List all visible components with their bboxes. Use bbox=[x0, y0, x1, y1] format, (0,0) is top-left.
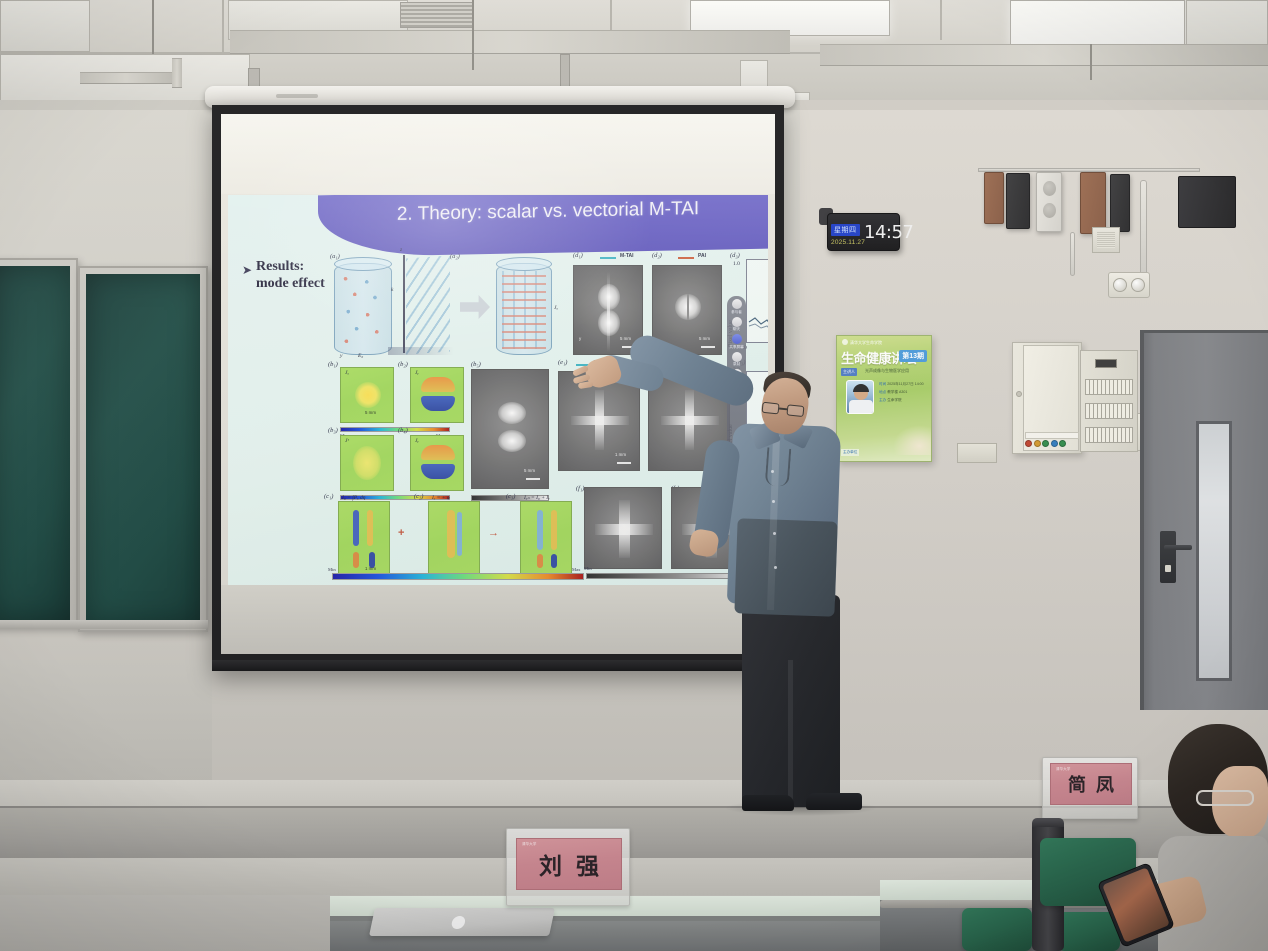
emergency-light-lens bbox=[1113, 278, 1127, 292]
figure-c2-equation: Iₑ = + φ bbox=[432, 495, 450, 501]
clock-time: 14:57 bbox=[864, 222, 913, 243]
placard-name-char-1: 简 bbox=[1068, 771, 1086, 797]
figure-a1-axis-line bbox=[403, 255, 405, 353]
figure-c1-scalebar-label: 1 mm bbox=[365, 566, 376, 571]
figure-d1-axis-y: y bbox=[579, 336, 581, 341]
laptop-macbook[interactable] bbox=[369, 908, 555, 936]
panel-label-a1: (a₁) bbox=[330, 253, 340, 260]
poster-photo-hair bbox=[853, 384, 869, 392]
wall-speaker-black-1 bbox=[1006, 173, 1030, 229]
control-button-blue[interactable] bbox=[1051, 440, 1058, 447]
figure-d3-ytick-top: 1.0 bbox=[733, 261, 740, 267]
figure-a2-current-label: Jₓ bbox=[554, 305, 558, 311]
figure-c1-fieldmap: 1 mm bbox=[338, 501, 390, 575]
ceiling-beam bbox=[820, 44, 1268, 66]
control-button-yellow[interactable] bbox=[1034, 440, 1041, 447]
breaker-meter-display bbox=[1095, 359, 1117, 368]
presenter-shirt-lower bbox=[734, 518, 837, 616]
panel-label-b3: (b₃) bbox=[328, 427, 338, 434]
chalkboard-chalk-tray bbox=[0, 620, 208, 629]
figure-b1-fieldmap: Jₓ 5 mm bbox=[340, 367, 394, 423]
presenter-shoe-right bbox=[806, 793, 862, 810]
panel-label-c1: (c₁) bbox=[324, 493, 333, 500]
poster-org-name: 清华大学生命学院 bbox=[850, 340, 882, 346]
poster-detail-value: 2025年11月27日 14:00 bbox=[887, 382, 924, 386]
share-icon[interactable] bbox=[732, 334, 742, 344]
ceiling-hanger-rod bbox=[472, 0, 474, 70]
toolbar-item-chat[interactable]: 聊天 bbox=[727, 317, 746, 333]
poster-detail-row: 主办 生命学院 bbox=[879, 398, 929, 403]
figure-c3-stripe-cyan bbox=[537, 510, 543, 550]
chalkboard-surface bbox=[0, 266, 70, 620]
figure-b2-upper-lobe bbox=[421, 377, 455, 392]
ceiling-bracket bbox=[80, 72, 172, 84]
panel-label-b5: (b₅) bbox=[471, 361, 481, 368]
figure-b1-symbol: Jₓ bbox=[345, 370, 349, 376]
emergency-light bbox=[1108, 272, 1150, 298]
figure-f-colorbar-min: Min bbox=[584, 566, 592, 571]
ceiling-hanger-rod bbox=[1090, 44, 1092, 80]
toolbar-item-participants[interactable]: 参与者 bbox=[727, 299, 746, 315]
ceiling-grid-line bbox=[940, 0, 942, 40]
ceiling-bracket-post bbox=[172, 58, 182, 88]
poster-speaker-tag: 主讲人 bbox=[841, 368, 857, 376]
name-placard-1: 清华大学 刘 强 bbox=[516, 838, 622, 890]
wall-cable-conduit bbox=[1070, 232, 1075, 276]
poster-org-logo-icon bbox=[842, 339, 848, 345]
figure-b5-lobe bbox=[498, 430, 526, 452]
control-button-green-1[interactable] bbox=[1042, 440, 1049, 447]
figure-b4-upper-lobe bbox=[421, 445, 455, 460]
figure-b5-image: 5 mm bbox=[471, 369, 549, 489]
figure-c3-fieldmap bbox=[520, 501, 572, 575]
figure-b5-lobe bbox=[498, 402, 526, 424]
ceiling-beam bbox=[230, 30, 790, 54]
ceiling-speaker-black bbox=[1178, 176, 1236, 228]
breaker-switch-row[interactable] bbox=[1085, 403, 1133, 419]
poster-photo-body bbox=[849, 400, 873, 414]
door-lever-handle[interactable] bbox=[1164, 545, 1192, 550]
figure-b1-scalebar-label: 5 mm bbox=[365, 410, 376, 415]
figure-b5-scalebar bbox=[526, 478, 540, 480]
emergency-light-lens bbox=[1131, 278, 1145, 292]
figure-f1-image bbox=[584, 487, 662, 569]
wall-cable-conduit bbox=[1140, 180, 1147, 280]
poster-detail-row: 时间 2025年11月27日 14:00 bbox=[879, 382, 929, 387]
legend-line-mtai bbox=[600, 257, 616, 259]
figure-c1-stripe-yellow bbox=[367, 510, 373, 546]
figure-b4-symbol: Jᵧ bbox=[415, 438, 419, 444]
ceiling-grid-line bbox=[222, 0, 224, 52]
figure-d2-split-line bbox=[687, 294, 689, 320]
figure-a1-axis-y: y bbox=[340, 353, 342, 359]
legend-label-mtai: M-TAI bbox=[620, 253, 634, 259]
figure-e2-cross-vertical bbox=[685, 390, 694, 450]
figure-c3-stripe-orange bbox=[537, 554, 543, 568]
poster-footer: 主办单位 bbox=[841, 449, 859, 456]
placard-name-char-2: 强 bbox=[576, 847, 599, 881]
panel-label-b1: (b₁) bbox=[328, 361, 338, 368]
figure-c1-stripe-blue bbox=[353, 510, 359, 546]
figure-d3-plot-area bbox=[746, 259, 768, 343]
figure-c2-stripe-yellow bbox=[447, 510, 455, 558]
figure-c3-stripe-navy bbox=[551, 554, 557, 568]
floor-post-cap bbox=[1032, 818, 1064, 827]
presenter-shoe-left bbox=[742, 795, 794, 811]
name-placard-2: 清华大学 简 凤 bbox=[1050, 763, 1132, 805]
poster-detail-value: 教学楼 A301 bbox=[887, 390, 907, 394]
figure-c1-stripe-orange bbox=[353, 552, 359, 568]
figure-d2-scalebar bbox=[701, 346, 715, 348]
wall-speaker-white-1 bbox=[1036, 172, 1062, 232]
figure-e1-scalebar bbox=[617, 462, 631, 464]
presenter-leg-separation bbox=[788, 660, 793, 807]
chalkboard-panel-left bbox=[0, 258, 78, 628]
figure-f-colorbar bbox=[586, 573, 750, 579]
wall-outlet-panel bbox=[957, 443, 997, 463]
poster-detail-row: 地点 教学楼 A301 bbox=[879, 390, 929, 395]
figure-c2-stripe-cyan bbox=[457, 512, 462, 556]
screen-upper-blank-area bbox=[221, 114, 775, 194]
figure-b2-symbol: Jᵧ bbox=[415, 370, 419, 376]
ceiling-air-vent bbox=[400, 2, 474, 28]
screen-weight-bar bbox=[212, 660, 784, 671]
electrical-box-label-strip bbox=[1025, 432, 1079, 439]
presentation-slide: 2. Theory: scalar vs. vectorial M-TAI ➤ … bbox=[228, 195, 768, 585]
figure-b1-colorbar bbox=[340, 427, 450, 432]
figure-d1-scalebar-label: 5 mm bbox=[620, 336, 631, 341]
legend-line-pai bbox=[678, 257, 694, 259]
toolbar-label: 聊天 bbox=[727, 327, 746, 332]
wall-amplifier-unit bbox=[1092, 227, 1120, 253]
poster-decoration bbox=[893, 425, 932, 455]
screen-lower-blank-area bbox=[221, 585, 775, 654]
presenter-glasses-lens-right bbox=[786, 404, 804, 417]
clock-weekday: 星期四 bbox=[831, 224, 860, 236]
figure-d2-scalebar-label: 5 mm bbox=[699, 336, 710, 341]
figure-c-colorbar-min: Min bbox=[328, 567, 336, 572]
figure-a1-axis-z: z bbox=[400, 247, 402, 253]
figure-b4-fieldmap: Jᵧ bbox=[410, 435, 464, 491]
figure-b3-hotspot bbox=[353, 446, 381, 480]
participants-icon[interactable] bbox=[732, 299, 742, 309]
figure-c3-stripe-yellow bbox=[551, 510, 557, 550]
poster-subtitle: 光声成像与生物医学应用 bbox=[865, 368, 909, 374]
figure-a1-baseline bbox=[388, 347, 454, 355]
door-lock-plate[interactable] bbox=[1160, 531, 1176, 583]
figure-c-colorbar-max: Max bbox=[572, 567, 580, 572]
auditorium-seat-1[interactable] bbox=[962, 908, 1032, 951]
breaker-switch-row[interactable] bbox=[1085, 379, 1133, 395]
panel-label-b2: (b₂) bbox=[398, 361, 408, 368]
poster-detail-value: 生命学院 bbox=[887, 398, 901, 402]
panel-label-a2: (a₂) bbox=[450, 253, 460, 260]
slide-bullet-text: Results: mode effect bbox=[256, 258, 326, 292]
poster-detail-label: 地点 bbox=[879, 390, 886, 394]
toolbar-item-record[interactable]: 录制 bbox=[727, 352, 746, 368]
speaker-driver bbox=[1043, 181, 1056, 196]
panel-label-d1: (d₁) bbox=[573, 252, 583, 259]
lecture-hall-photo: 星期四 2025.11.27 14:57 清华大学生命学院 生命健康讲坛 第13… bbox=[0, 0, 1268, 951]
clock-date-section: 星期四 2025.11.27 bbox=[828, 219, 864, 246]
wall-speaker-black-2 bbox=[1110, 174, 1130, 232]
figure-d3-curves bbox=[747, 260, 768, 344]
figure-arrow-symbol: → bbox=[488, 527, 499, 539]
figure-c1-equation: I₀ = ∫Pₓ dη bbox=[342, 495, 366, 501]
figure-c-row-colorbar bbox=[332, 573, 584, 580]
figure-a1-axis-E0: E₀ bbox=[358, 353, 363, 359]
ceiling-tile bbox=[0, 0, 90, 52]
toolbar-label: 参与者 bbox=[727, 310, 746, 315]
digital-wall-clock: 星期四 2025.11.27 14:57 bbox=[827, 213, 900, 251]
figure-b4-lower-lobe bbox=[421, 464, 455, 479]
poster-detail-label: 主办 bbox=[879, 398, 886, 402]
wall-speaker-brown-1 bbox=[984, 172, 1004, 224]
door-glass-panel bbox=[1196, 421, 1232, 681]
figure-b3-fieldmap: Jᶻ bbox=[340, 435, 394, 491]
panel-label-c2: (c₂) bbox=[414, 493, 423, 500]
control-button-green-2[interactable] bbox=[1059, 440, 1066, 447]
figure-transition-arrow-icon bbox=[460, 295, 490, 319]
record-icon[interactable] bbox=[732, 352, 742, 362]
figure-a1-cylinder-top bbox=[334, 257, 392, 271]
bullet-arrow-icon: ➤ bbox=[242, 263, 252, 277]
room-door[interactable] bbox=[1140, 330, 1268, 710]
figure-a1-axis-k: k bbox=[391, 287, 393, 293]
placard-name-char-1: 刘 bbox=[539, 847, 562, 881]
speaker-driver bbox=[1043, 203, 1056, 218]
figure-e1-cross-vertical bbox=[595, 390, 604, 450]
figure-b2-fieldmap: Jᵧ bbox=[410, 367, 464, 423]
door-keyhole bbox=[1165, 565, 1171, 572]
figure-f1-cross-vertical bbox=[619, 500, 630, 558]
control-button-red[interactable] bbox=[1025, 440, 1032, 447]
amplifier-grille bbox=[1097, 232, 1115, 248]
panel-label-d2: (d₂) bbox=[652, 252, 662, 259]
figure-b3-symbol: Jᶻ bbox=[345, 438, 349, 444]
legend-label-pai: PAI bbox=[698, 253, 706, 259]
figure-c2-fieldmap bbox=[428, 501, 480, 575]
electrical-box-handle[interactable] bbox=[1016, 391, 1022, 397]
chalkboard-surface bbox=[86, 274, 200, 624]
clock-date: 2025.11.27 bbox=[831, 239, 864, 246]
figure-a1-scatterers bbox=[340, 271, 386, 349]
placard-org-logo: 清华大学 bbox=[522, 842, 536, 847]
chat-icon[interactable] bbox=[732, 317, 742, 327]
placard-org-logo: 清华大学 bbox=[1056, 767, 1070, 772]
figure-b2-lower-lobe bbox=[421, 396, 455, 411]
figure-b1-hotspot bbox=[355, 382, 381, 408]
figure-d1-center-line bbox=[607, 272, 610, 352]
presenter-lanyard bbox=[765, 447, 792, 487]
panel-label-c3: (c₃) bbox=[506, 493, 515, 500]
poster-detail-rows: 时间 2025年11月27日 14:00 地点 教学楼 A301 主办 生命学院 bbox=[879, 382, 929, 406]
chalkboard-panel-right bbox=[78, 266, 208, 632]
toolbar-label: 录制 bbox=[727, 362, 746, 367]
figure-plus-symbol: + bbox=[398, 527, 404, 539]
figure-e1-scalebar-label: 1 mm bbox=[615, 452, 626, 457]
poster-speaker-photo bbox=[846, 380, 874, 414]
breaker-switch-row[interactable] bbox=[1085, 427, 1133, 443]
electrical-button-row[interactable] bbox=[1025, 440, 1066, 447]
apple-logo-icon bbox=[451, 916, 467, 929]
audience-member-glasses bbox=[1196, 790, 1254, 806]
poster-detail-label: 时间 bbox=[879, 382, 886, 386]
figure-a1-wave-sketch bbox=[406, 255, 450, 354]
toolbar-item-share[interactable]: 共享屏幕 bbox=[727, 334, 746, 350]
wall-lower-section bbox=[0, 660, 212, 790]
figure-c3-equation: Iₐₙ = I₀ + Iₑ bbox=[524, 495, 550, 501]
placard-name-char-2: 凤 bbox=[1096, 771, 1114, 797]
panel-label-e1: (e₁) bbox=[558, 359, 567, 366]
figure-a2-mode-pattern bbox=[502, 271, 546, 349]
ceiling-light-panel bbox=[1010, 0, 1185, 48]
presenter-glasses-bridge bbox=[779, 407, 787, 409]
toolbar-label: 共享屏幕 bbox=[727, 345, 746, 350]
presenter-glasses-lens-left bbox=[762, 402, 780, 415]
event-poster: 清华大学生命学院 生命健康讲坛 第13期 主讲人 光声成像与生物医学应用 时间 … bbox=[836, 335, 932, 462]
figure-a2-cylinder-top bbox=[496, 257, 552, 271]
wall-speaker-brown-2 bbox=[1080, 172, 1106, 234]
figure-b5-scalebar-label: 5 mm bbox=[524, 468, 535, 473]
electrical-control-box bbox=[1012, 342, 1082, 454]
panel-label-d3: (d₃) bbox=[730, 252, 740, 259]
poster-issue-badge: 第13期 bbox=[899, 350, 927, 362]
circuit-breaker-box bbox=[1080, 350, 1138, 452]
panel-label-b4: (b₄) bbox=[398, 427, 408, 434]
